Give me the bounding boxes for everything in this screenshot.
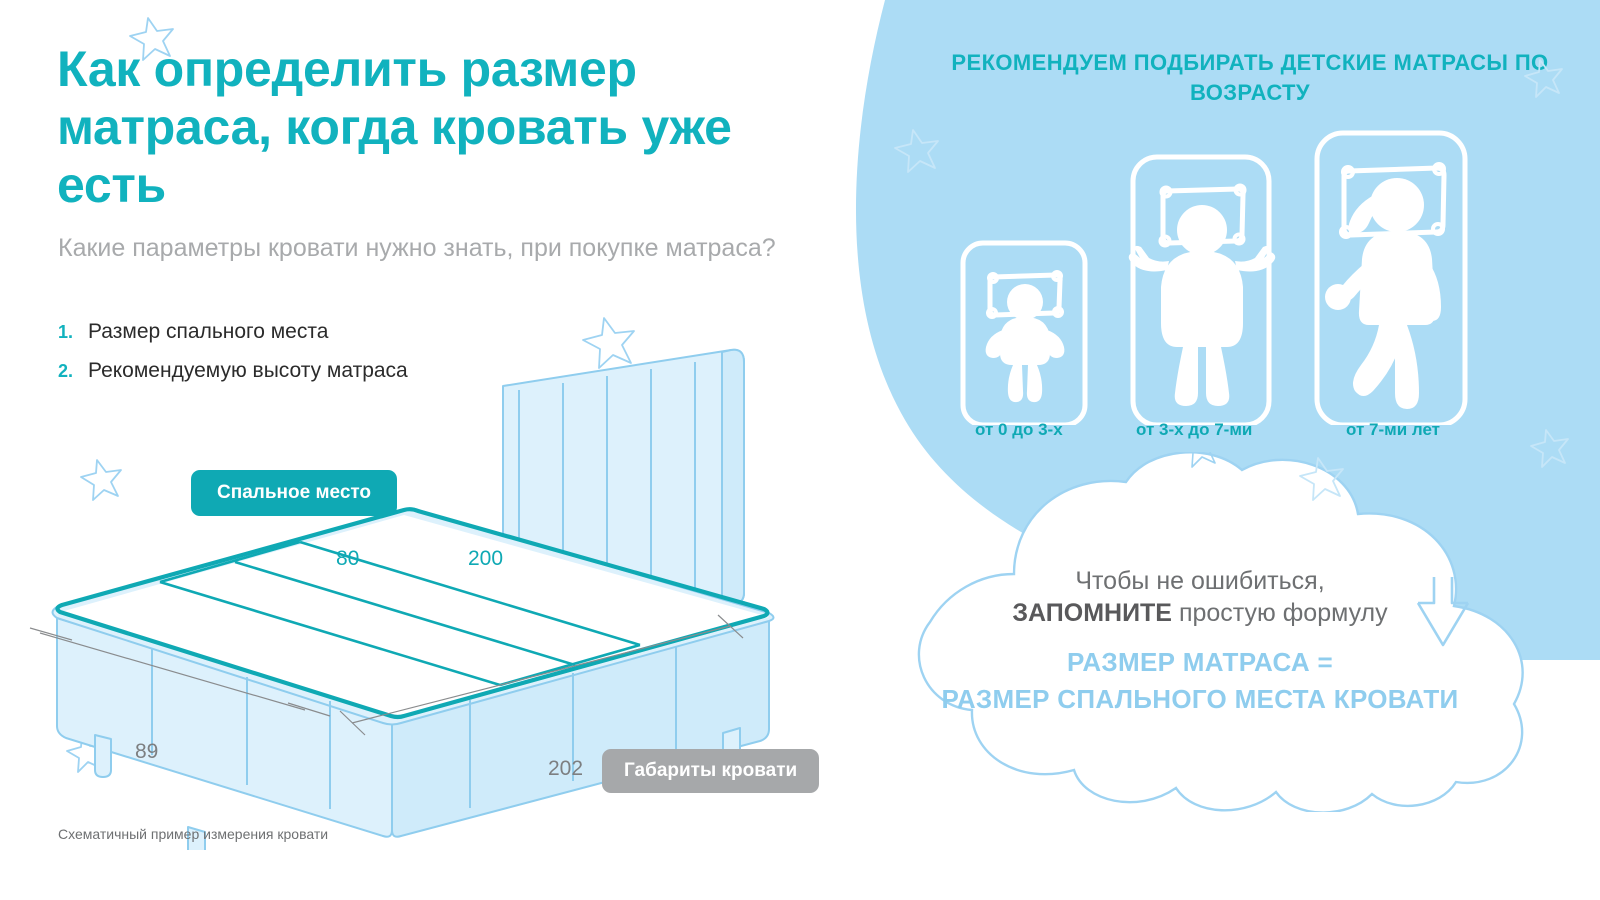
diagram-caption: Схематичный пример измерения кровати: [58, 826, 328, 842]
page-subtitle: Какие параметры кровати нужно знать, при…: [58, 232, 778, 266]
cloud-text-block: Чтобы не ошибиться, ЗАПОМНИТЕ простую фо…: [900, 565, 1500, 715]
toddler-figure-icon: [1129, 157, 1276, 425]
age-label-0-3: от 0 до 3-х: [975, 420, 1063, 440]
dimension-outer-width-label: 89: [135, 740, 158, 764]
left-content-column: Как определить размер матраса, когда кро…: [0, 0, 845, 900]
age-labels-row: от 0 до 3-х от 3-х до 7-ми от 7-ми лет: [940, 420, 1560, 450]
formula-line-2: РАЗМЕР СПАЛЬНОГО МЕСТА КРОВАТИ: [900, 684, 1500, 715]
formula-line-1: РАЗМЕР МАТРАСА =: [900, 647, 1500, 678]
age-label-3-7: от 3-х до 7-ми: [1136, 420, 1252, 440]
dimension-outer-length-label: 202: [548, 757, 583, 781]
dimension-width-label: 80: [336, 547, 359, 571]
child-figure-icon: [1317, 133, 1465, 425]
sleeping-area-badge: Спальное место: [191, 470, 397, 516]
cloud-line-1: Чтобы не ошибиться,: [900, 565, 1500, 597]
cloud-line-2: ЗАПОМНИТЕ простую формулу: [900, 597, 1500, 629]
page-title: Как определить размер матраса, когда кро…: [57, 40, 817, 214]
dimension-length-label: 200: [468, 547, 503, 571]
arrow-down-icon: [1414, 573, 1472, 649]
age-mattress-figures: [955, 125, 1535, 425]
cloud-line-2-bold: ЗАПОМНИТЕ: [1012, 599, 1172, 627]
age-label-7plus: от 7-ми лет: [1346, 420, 1440, 440]
bed-overall-badge: Габариты кровати: [602, 749, 819, 793]
infographic-canvas: Как определить размер матраса, когда кро…: [0, 0, 1600, 900]
cloud-line-2-rest: простую формулу: [1172, 599, 1388, 627]
baby-figure-icon: [963, 243, 1085, 425]
right-panel-title: РЕКОМЕНДУЕМ ПОДБИРАТЬ ДЕТСКИЕ МАТРАСЫ ПО…: [940, 48, 1560, 108]
